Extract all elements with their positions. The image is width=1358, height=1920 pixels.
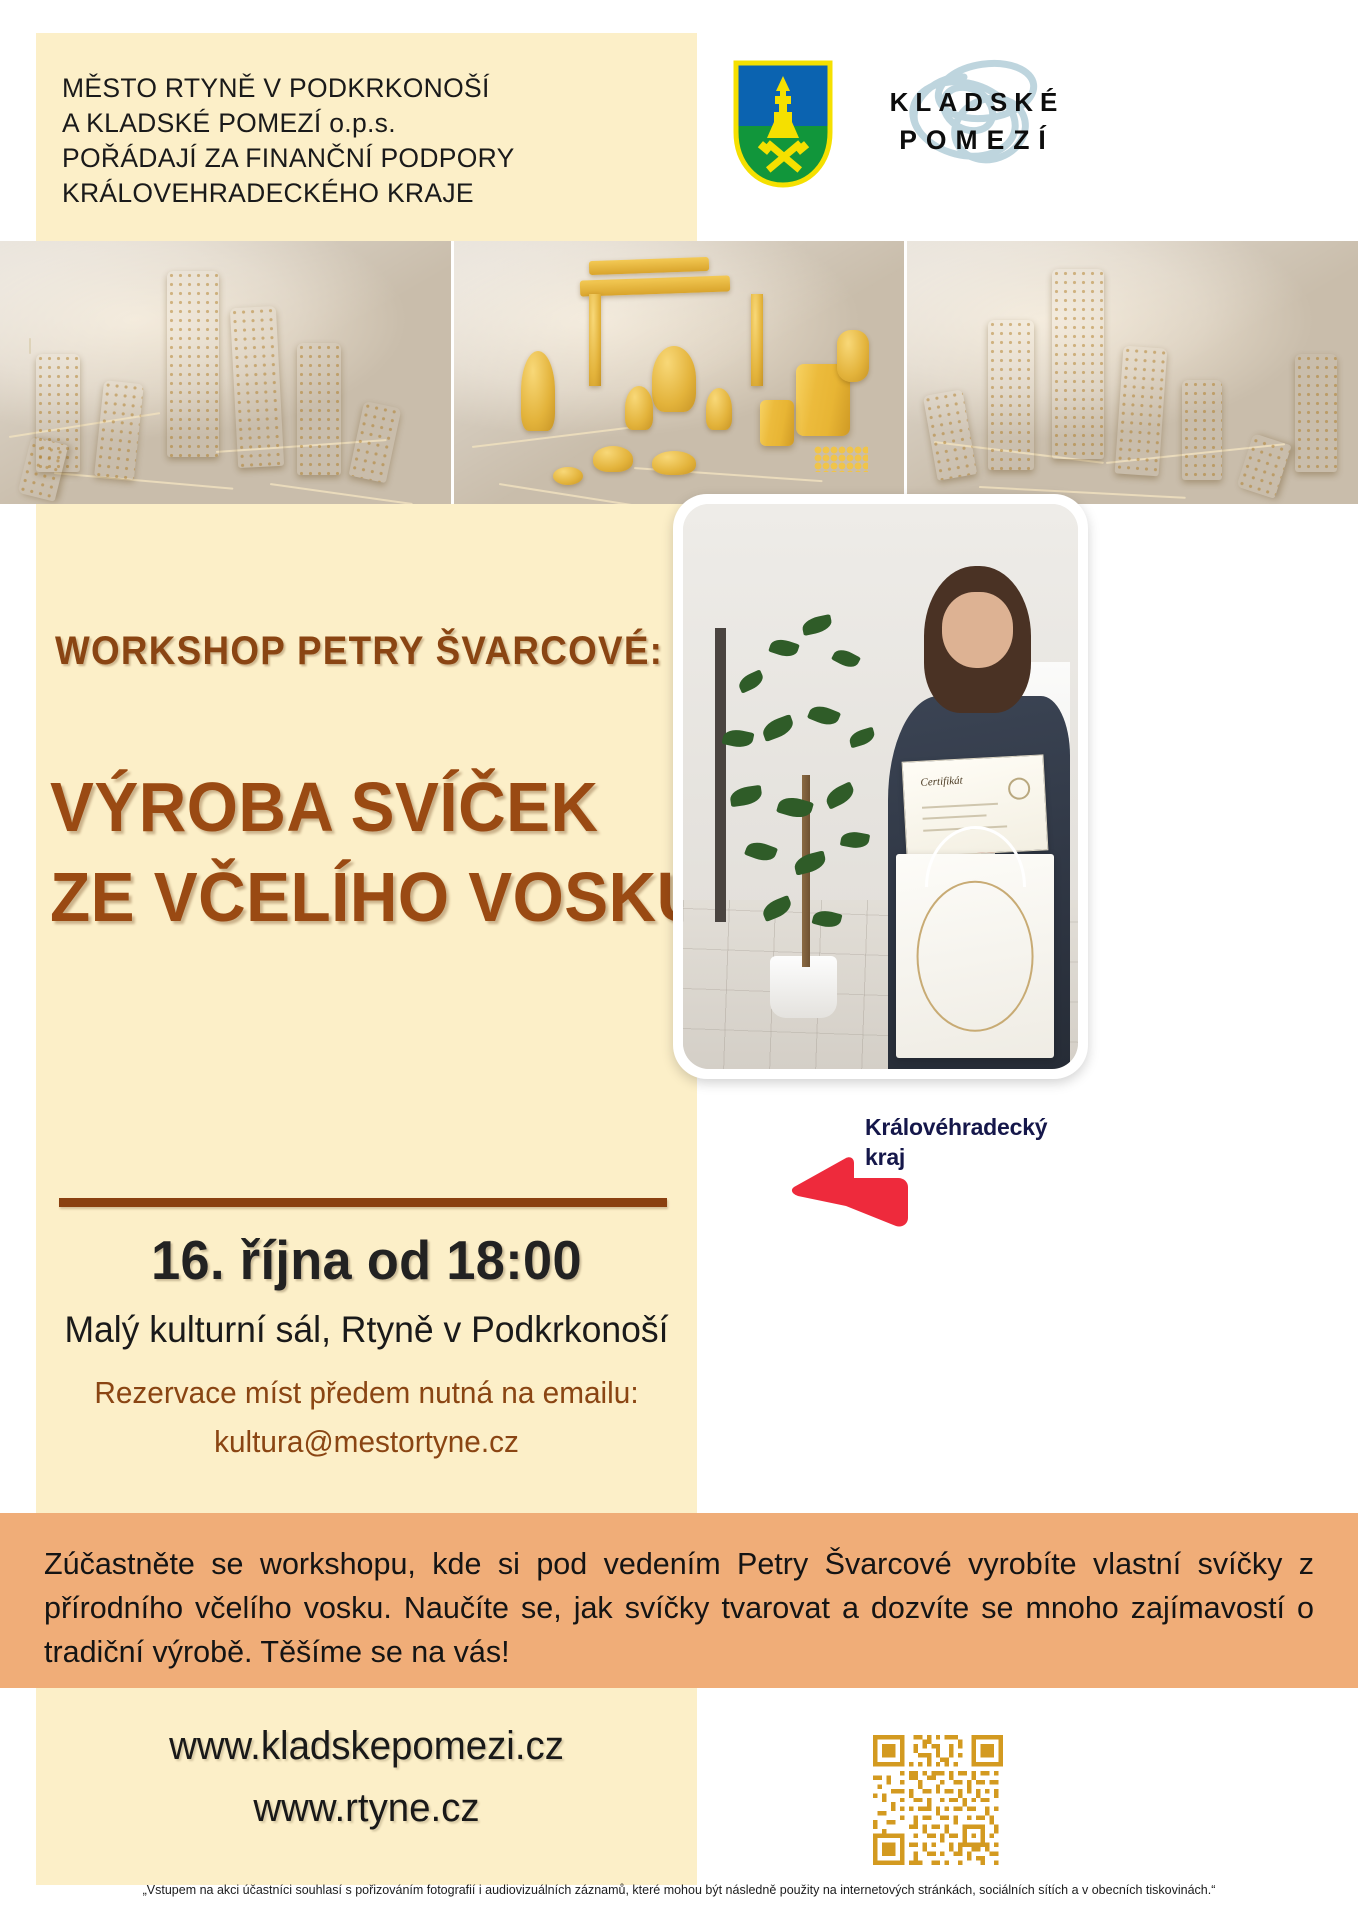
qr-code[interactable]: [873, 1735, 1003, 1865]
khk-red-arrow-icon: [790, 1156, 908, 1234]
kladske-pomezi-logo: KLADSKÉ POMEZÍ: [862, 55, 1092, 175]
reservation-email[interactable]: kultura@mestortyne.cz: [49, 1424, 684, 1460]
header-block: MĚSTO RTYNĚ V PODKRKONOŠÍ A KLADSKÉ POME…: [36, 33, 697, 241]
tote-bag-logo-ring: [917, 881, 1034, 1032]
web-link-rtyne[interactable]: www.rtyne.cz: [49, 1777, 684, 1839]
khk-line-1: Královéhradecký: [865, 1112, 1047, 1142]
kp-line-2: POMEZÍ: [862, 121, 1092, 159]
wax-photo-3: [907, 241, 1358, 504]
kralovehradecky-kraj-logo: Královéhradecký kraj: [790, 1112, 1090, 1237]
photo-person-face: [942, 592, 1013, 668]
web-link-kladskepomezi[interactable]: www.kladskepomezi.cz: [49, 1715, 684, 1777]
wax-photo-1: [0, 241, 451, 504]
divider-rule: [59, 1198, 667, 1207]
photo-door-edge: [715, 628, 727, 922]
kladske-pomezi-wordmark: KLADSKÉ POMEZÍ: [862, 83, 1092, 159]
footer-disclaimer: „Vstupem na akci účastníci souhlasí s po…: [0, 1883, 1358, 1897]
headline-line-1: VÝROBA SVÍČEK: [50, 762, 708, 852]
petra-svarcova-photo-frame: Certifikát: [673, 494, 1088, 1079]
kp-line-1: KLADSKÉ: [862, 83, 1092, 121]
beeswax-photo-strip: [0, 241, 1358, 504]
photo-tote-bag: [896, 854, 1054, 1057]
description-text: Zúčastněte se workshopu, kde si pod vede…: [44, 1542, 1314, 1674]
poster-root: MĚSTO RTYNĚ V PODKRKONOŠÍ A KLADSKÉ POME…: [0, 0, 1358, 1920]
description-band: Zúčastněte se workshopu, kde si pod vede…: [0, 1513, 1358, 1688]
petra-svarcova-photo: Certifikát: [683, 504, 1078, 1069]
event-venue: Malý kulturní sál, Rtyně v Podkrkonoší: [49, 1309, 684, 1351]
reservation-note: Rezervace míst předem nutná na emailu:: [49, 1375, 684, 1411]
certificate-seal-icon: [1008, 777, 1031, 800]
web-links-block: www.kladskepomezi.cz www.rtyne.cz: [36, 1715, 697, 1839]
header-line-2: A KLADSKÉ POMEZÍ o.p.s.: [62, 106, 697, 141]
wax-photo-2-nativity: [454, 241, 905, 504]
workshop-kicker: WORKSHOP PETRY ŠVARCOVÉ:: [55, 629, 663, 674]
certificate-title: Certifikát: [920, 775, 963, 789]
header-line-4: KRÁLOVEHRADECKÉHO KRAJE: [62, 176, 697, 211]
headline-line-2: ZE VČELÍHO VOSKU: [50, 852, 708, 942]
header-line-1: MĚSTO RTYNĚ V PODKRKONOŠÍ: [62, 71, 697, 106]
event-date-time: 16. října od 18:00: [53, 1228, 681, 1292]
header-line-3: POŘÁDAJÍ ZA FINANČNÍ PODPORY: [62, 141, 697, 176]
headline-block: VÝROBA SVÍČEK ZE VČELÍHO VOSKU: [50, 762, 708, 942]
rtyne-coat-of-arms-icon: [733, 60, 833, 188]
